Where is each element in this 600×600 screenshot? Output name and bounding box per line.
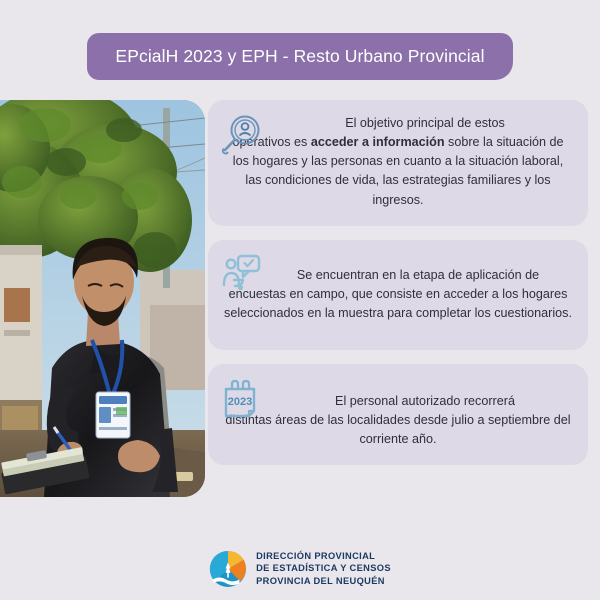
info-card-schedule-text: El personal autorizado recorrerádistinta… [220, 392, 576, 449]
info-card-schedule: 2023 El personal autorizado recorrerádis… [208, 364, 588, 465]
card3-rest: distintas áreas de las localidades desde… [225, 413, 570, 446]
card1-emphasis: acceder a información [311, 135, 445, 149]
info-card-objective-text: El objetivo principal de estosoperativos… [220, 114, 576, 210]
footer-line-2: de Estadística y Censos [256, 562, 391, 575]
photo-illustration [0, 100, 205, 497]
person-speech-check-icon [220, 253, 264, 297]
footer-line-1: Dirección Provincial [256, 550, 391, 563]
info-card-stage-text: Se encuentran en la etapa de aplicación … [220, 266, 576, 323]
footer-organization-name: Dirección Provincial de Estadística y Ce… [256, 550, 391, 588]
info-card-stage: Se encuentran en la etapa de aplicación … [208, 240, 588, 350]
card2-line1: Se encuentran en la etapa de aplicación … [224, 266, 572, 285]
card3-line1: El personal autorizado recorrerá [224, 392, 572, 411]
hero-photo [0, 100, 205, 497]
neuquen-statistics-logo [209, 550, 247, 588]
info-cards: El objetivo principal de estosoperativos… [208, 100, 588, 479]
magnifier-person-icon [220, 113, 264, 157]
page-title: EPcialH 2023 y EPH - Resto Urbano Provin… [115, 46, 484, 67]
footer: Dirección Provincial de Estadística y Ce… [0, 537, 600, 600]
calendar-2023-icon: 2023 [220, 377, 264, 421]
info-card-objective: El objetivo principal de estosoperativos… [208, 100, 588, 226]
card1-line1: El objetivo principal de estos [224, 114, 572, 133]
calendar-year-label: 2023 [228, 396, 252, 408]
card2-rest: encuestas en campo, que consiste en acce… [224, 287, 572, 320]
page-title-banner: EPcialH 2023 y EPH - Resto Urbano Provin… [87, 33, 513, 80]
footer-line-3: Provincia del Neuquén [256, 575, 391, 588]
